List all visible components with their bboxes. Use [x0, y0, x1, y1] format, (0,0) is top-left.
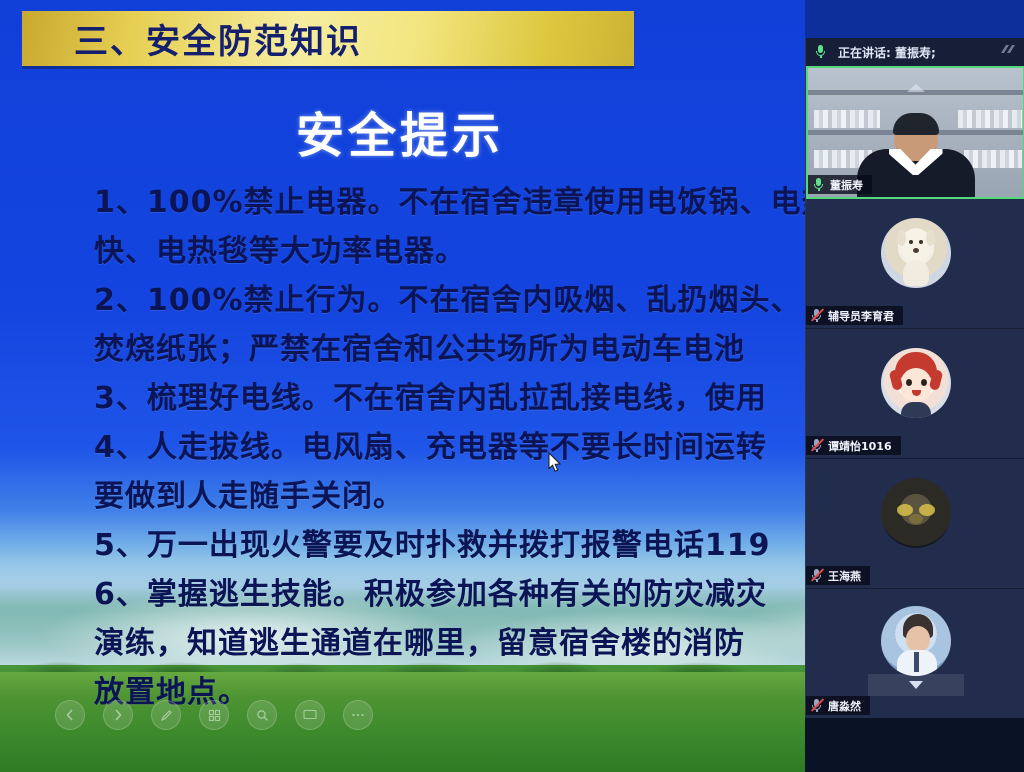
participant-name: 辅导员李育君: [828, 308, 894, 324]
mic-active-icon: [812, 177, 825, 192]
next-slide-icon[interactable]: [103, 700, 133, 730]
avatar: [881, 348, 951, 418]
panel-top-strip: [805, 0, 1024, 38]
avatar: [881, 218, 951, 288]
participant-name: 董振寿: [830, 177, 863, 193]
slide-heading: 安全提示: [0, 96, 800, 166]
double-chevron-icon[interactable]: [1000, 42, 1016, 56]
participant-namebar: 辅导员李育君: [806, 306, 903, 325]
chevron-down-icon[interactable]: [868, 674, 964, 696]
zoom-in-icon[interactable]: [247, 700, 277, 730]
previous-slide-icon[interactable]: [55, 700, 85, 730]
participant-tile[interactable]: 董振寿: [806, 66, 1024, 199]
ppt-presenter-toolbar: [55, 700, 373, 730]
screen-share-window: 三、安全防范知识 安全提示 1、100%禁止电器。不在宿舍违章使用电饭锅、电热 …: [0, 0, 1024, 772]
participant-namebar: 谭靖怡1016: [806, 436, 901, 455]
participant-name: 谭靖怡1016: [828, 438, 892, 454]
participant-namebar: 王海燕: [806, 566, 870, 585]
more-options-icon[interactable]: [343, 700, 373, 730]
participant-namebar: 唐淼然: [806, 696, 870, 715]
all-slides-icon[interactable]: [199, 700, 229, 730]
pen-tool-icon[interactable]: [151, 700, 181, 730]
participant-tile[interactable]: 王海燕: [806, 459, 1024, 589]
video-participants-panel: 正在讲话: 董振寿;: [805, 38, 1024, 718]
mic-muted-icon: [810, 568, 823, 583]
active-speaker-label: 正在讲话: 董振寿;: [838, 44, 936, 61]
participant-name: 王海燕: [828, 568, 861, 584]
presenter-view-icon[interactable]: [295, 700, 325, 730]
slide-title-banner: 三、安全防范知识: [22, 11, 634, 69]
participant-tile[interactable]: 辅导员李育君: [806, 199, 1024, 329]
active-speaker-header: 正在讲话: 董振寿;: [806, 38, 1024, 66]
slide-banner-title: 三、安全防范知识: [74, 14, 362, 63]
shelf-decoration: [907, 84, 925, 92]
mic-muted-icon: [810, 308, 823, 323]
participant-name: 唐淼然: [828, 698, 861, 714]
avatar: [881, 606, 951, 676]
participant-tile[interactable]: 谭靖怡1016: [806, 329, 1024, 459]
participant-namebar: 董振寿: [808, 175, 872, 194]
avatar: [881, 478, 951, 548]
mic-active-icon: [814, 44, 828, 60]
mic-muted-icon: [810, 698, 823, 713]
participant-tile[interactable]: 唐淼然: [806, 589, 1024, 718]
panel-bottom-strip: [805, 718, 1024, 772]
mic-muted-icon: [810, 438, 823, 453]
